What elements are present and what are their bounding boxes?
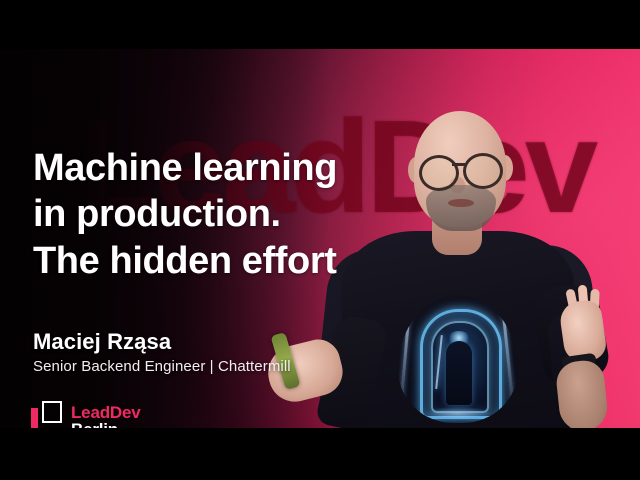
speaker-forearm-right	[554, 359, 609, 428]
speaker-beard	[426, 185, 496, 231]
slide-stage: LeadDev	[0, 49, 640, 428]
letterbox-bottom	[0, 428, 640, 480]
leaddev-berlin-logo: LeadDev Berlin	[31, 401, 140, 428]
speaker-role: Senior Backend Engineer | Chattermill	[33, 359, 291, 376]
archway-reflection-pool	[426, 407, 490, 420]
letterbox-top	[0, 0, 640, 49]
speaker-credit-block: Maciej Rząsa Senior Backend Engineer | C…	[33, 330, 291, 376]
glasses-lens-left	[419, 155, 459, 191]
logo-l-shape	[31, 408, 54, 428]
logo-brand-text: LeadDev	[71, 404, 140, 422]
glasses-lens-right	[463, 153, 503, 189]
glasses-bridge	[452, 163, 465, 166]
video-frame: LeadDev	[0, 0, 640, 480]
leaddev-l-mark-icon	[31, 401, 62, 428]
logo-wordmark: LeadDev Berlin	[71, 404, 140, 429]
speaker-mouth	[448, 199, 474, 207]
archway-robed-figure	[446, 341, 472, 405]
talk-title: Machine learning in production. The hidd…	[33, 145, 337, 284]
speaker-photo	[300, 49, 640, 428]
speaker-name: Maciej Rząsa	[33, 330, 291, 354]
logo-city-text: Berlin	[71, 421, 140, 428]
